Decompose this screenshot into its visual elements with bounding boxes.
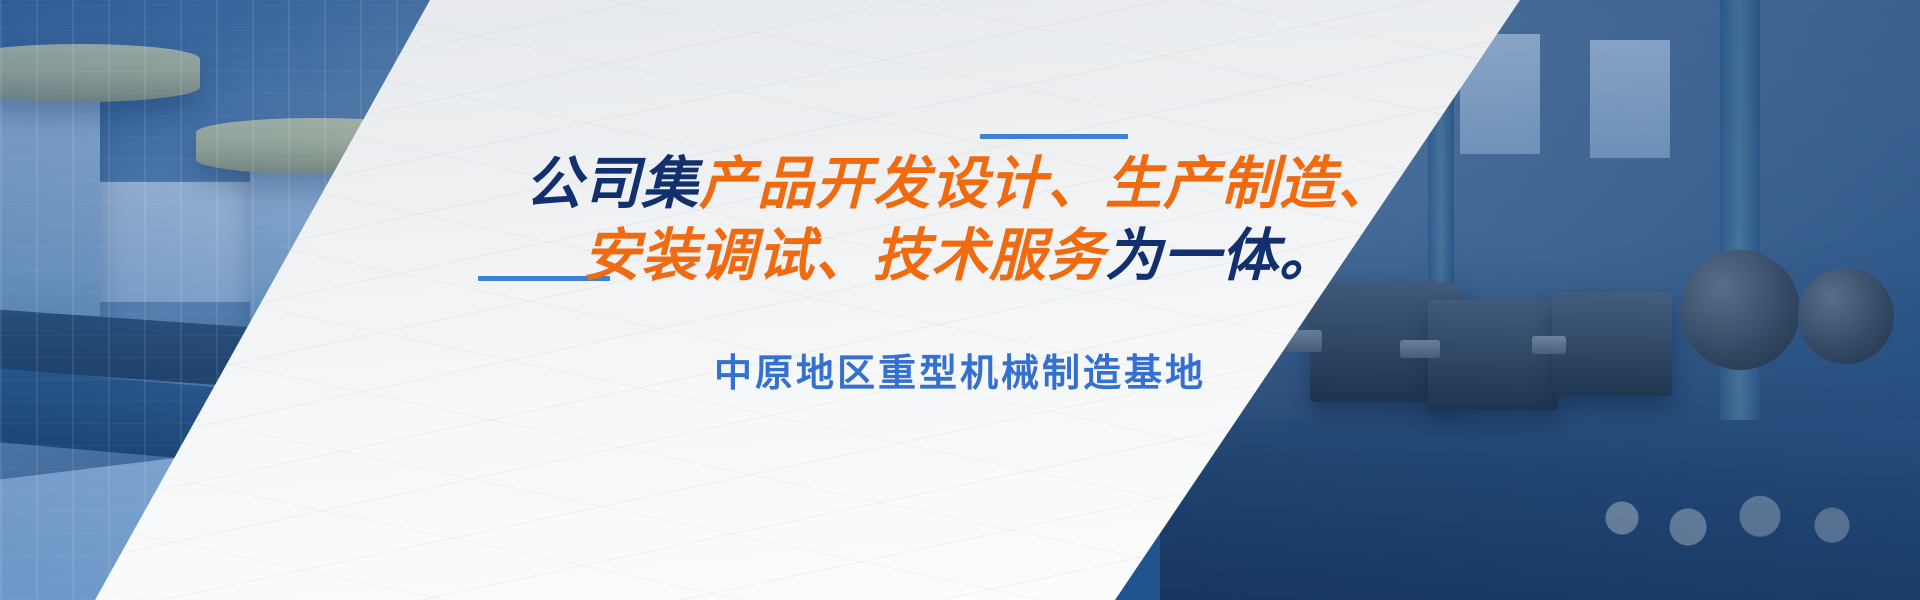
headline: 公司集产品开发设计、生产制造、 安装调试、技术服务为一体。 [0, 148, 1920, 292]
headline-line-1-part-1: 公司集 [525, 152, 699, 216]
headline-line-2: 安装调试、技术服务为一体。 [0, 220, 1920, 292]
hero-banner: 公司集产品开发设计、生产制造、 安装调试、技术服务为一体。 中原地区重型机械制造… [0, 0, 1920, 600]
subtitle: 中原地区重型机械制造基地 [0, 348, 1920, 400]
headline-line-2-part-1: 安装调试、技术服务 [583, 224, 1105, 288]
machine-drum-1 [0, 44, 200, 102]
headline-line-2-part-2: 为一体。 [1105, 224, 1337, 288]
accent-bar-top [980, 134, 1128, 139]
headline-line-1: 公司集产品开发设计、生产制造、 [0, 148, 1920, 220]
headline-line-1-part-2: 产品开发设计、生产制造、 [699, 152, 1395, 216]
